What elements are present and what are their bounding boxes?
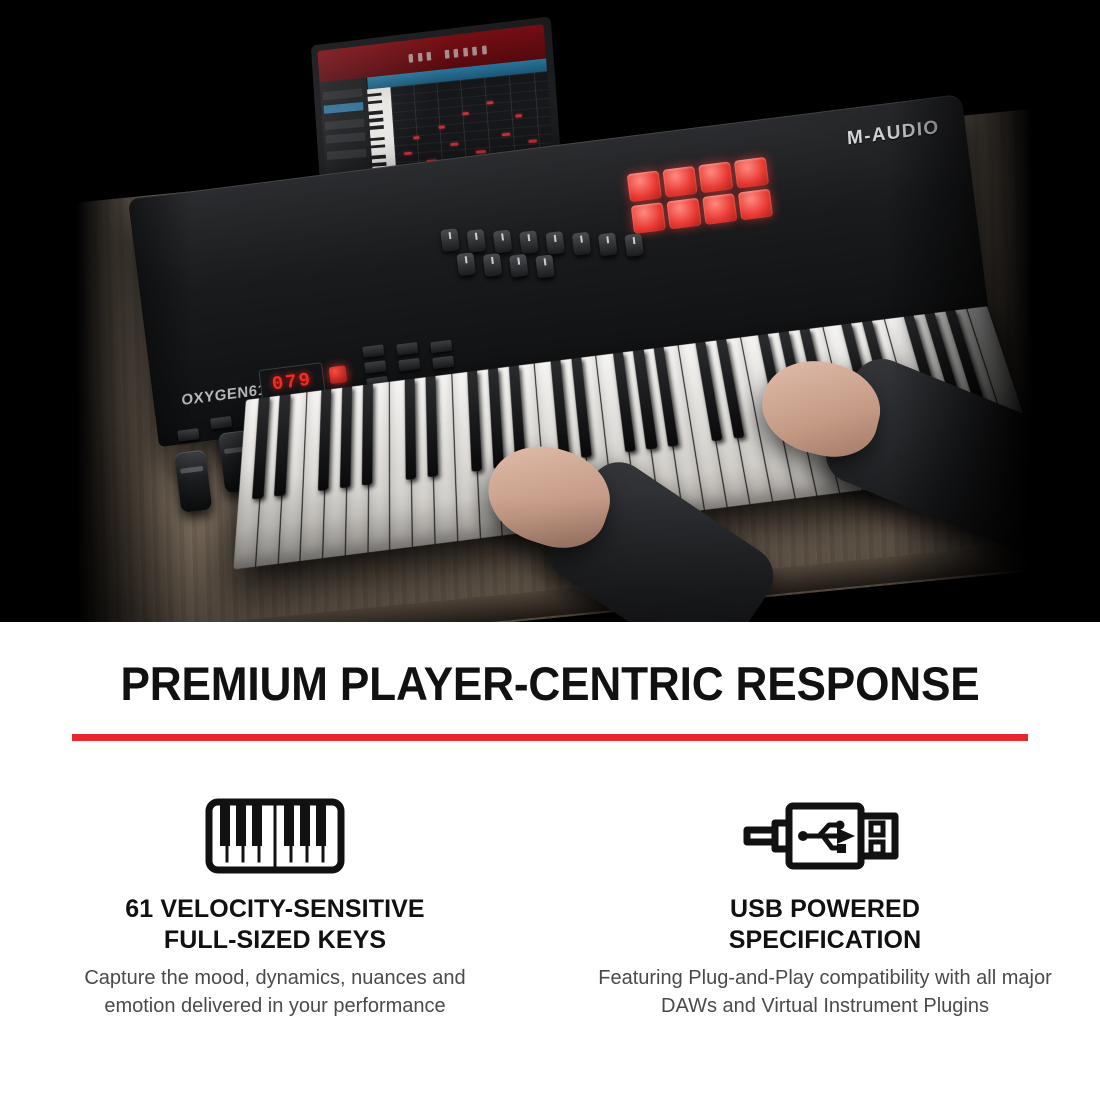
drum-pad	[662, 166, 697, 198]
drum-pad	[666, 198, 701, 230]
drum-pad	[734, 157, 769, 189]
feature-title-line1: 61 VELOCITY-SENSITIVE	[125, 895, 424, 923]
feature-title-line2: SPECIFICATION	[729, 926, 922, 954]
drum-pad-grid[interactable]	[627, 157, 773, 234]
feature-title-line2: FULL-SIZED KEYS	[164, 926, 386, 954]
usb-plug-icon	[741, 794, 909, 878]
piano-keys-icon	[205, 794, 345, 878]
feature-list: 61 VELOCITY-SENSITIVE FULL-SIZED KEYS Ca…	[0, 794, 1100, 1021]
page-title: PREMIUM PLAYER-CENTRIC RESPONSE	[33, 656, 1067, 711]
red-divider	[72, 734, 1028, 741]
product-feature-page: M-AUDIO OXYGEN61 079	[0, 0, 1100, 1100]
feature-title: 61 VELOCITY-SENSITIVE FULL-SIZED KEYS	[125, 894, 424, 955]
drum-pad	[738, 189, 773, 221]
feature-keys: 61 VELOCITY-SENSITIVE FULL-SIZED KEYS Ca…	[0, 794, 550, 1021]
feature-description: Featuring Plug-and-Play compatibility wi…	[590, 964, 1060, 1021]
drum-pad	[698, 161, 733, 193]
feature-title-line1: USB POWERED	[730, 895, 920, 923]
select-button[interactable]	[329, 365, 348, 384]
feature-usb: USB POWERED SPECIFICATION Featuring Plug…	[550, 794, 1100, 1021]
knob-row[interactable]	[440, 205, 643, 285]
drum-pad	[627, 170, 662, 202]
right-vignette	[890, 0, 1100, 622]
feature-description: Capture the mood, dynamics, nuances and …	[75, 964, 475, 1021]
drum-pad	[702, 193, 737, 225]
feature-panel: PREMIUM PLAYER-CENTRIC RESPONSE	[0, 622, 1100, 1100]
feature-title: USB POWERED SPECIFICATION	[729, 894, 922, 955]
left-vignette	[0, 0, 190, 622]
hero-product-photo: M-AUDIO OXYGEN61 079	[0, 0, 1100, 622]
